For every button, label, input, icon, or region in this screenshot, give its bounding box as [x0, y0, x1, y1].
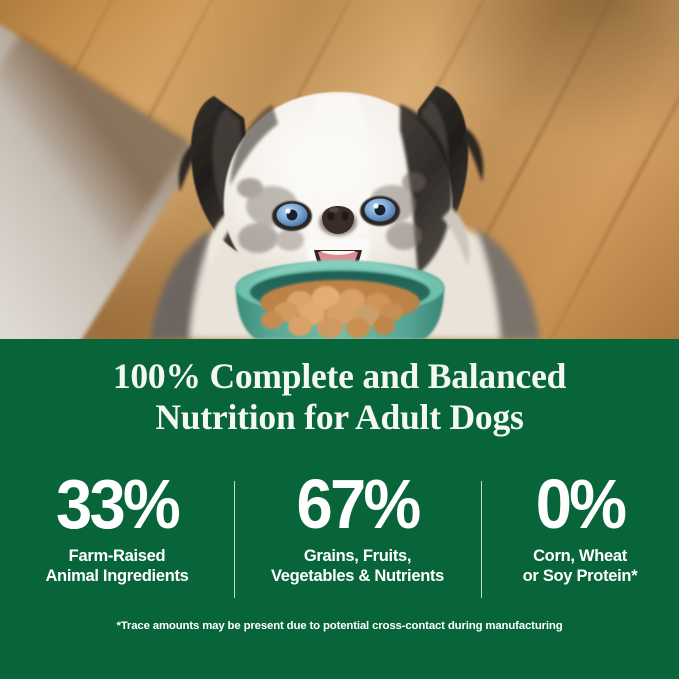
stat-value: 0% — [494, 469, 667, 539]
stat-column-no-corn-wheat-soy: 0% Corn, Wheat or Soy Protein* — [481, 469, 679, 586]
green-info-panel: 100% Complete and Balanced Nutrition for… — [0, 339, 679, 679]
headline-line-2: Nutrition for Adult Dogs — [0, 397, 679, 438]
stat-label-line-2: Vegetables & Nutrients — [240, 567, 475, 587]
stat-label-line-1: Farm-Raised — [6, 547, 228, 567]
stat-column-grains-fruits: 67% Grains, Fruits, Vegetables & Nutrien… — [234, 469, 481, 586]
headline: 100% Complete and Balanced Nutrition for… — [0, 356, 679, 438]
stat-label-line-2: or Soy Protein* — [487, 567, 673, 587]
stat-label: Farm-Raised Animal Ingredients — [6, 547, 228, 586]
footnote: *Trace amounts may be present due to pot… — [0, 620, 679, 632]
stat-label-line-1: Corn, Wheat — [487, 547, 673, 567]
stat-label: Corn, Wheat or Soy Protein* — [487, 547, 673, 586]
stat-label: Grains, Fruits, Vegetables & Nutrients — [240, 547, 475, 586]
stat-column-farm-raised: 33% Farm-Raised Animal Ingredients — [0, 469, 234, 586]
stat-value: 33% — [14, 469, 220, 539]
stat-label-line-2: Animal Ingredients — [6, 567, 228, 587]
product-feature-poster: 100% Complete and Balanced Nutrition for… — [0, 0, 679, 679]
stats-row: 33% Farm-Raised Animal Ingredients 67% G… — [0, 469, 679, 586]
stat-label-line-1: Grains, Fruits, — [240, 547, 475, 567]
dog-food-bowl — [0, 0, 679, 339]
hero-photo — [0, 0, 679, 339]
headline-line-1: 100% Complete and Balanced — [113, 356, 566, 396]
stat-value: 67% — [248, 469, 467, 539]
